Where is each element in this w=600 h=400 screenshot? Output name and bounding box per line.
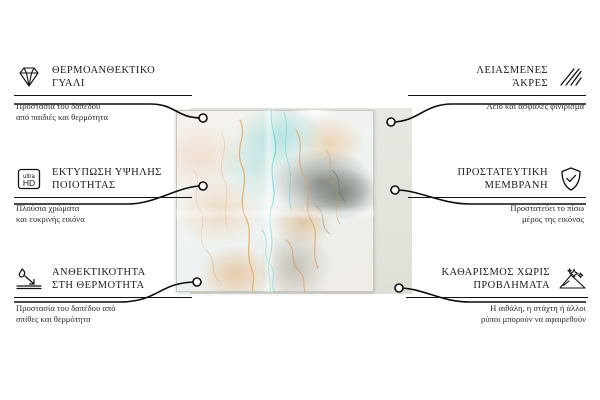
feature-header: ΘΕΡΜΟΑΝΘΕΚΤΙΚΟ ΓΥΑΛΙ (14, 64, 192, 90)
feature-title: ΘΕΡΜΟΑΝΘΕΚΤΙΚΟ ΓΥΑΛΙ (52, 64, 155, 90)
divider (406, 297, 588, 298)
feature-header: ΛΕΙΑΣΜΕΝΕΣ ΆΚΡΕΣ (408, 64, 586, 90)
divider (14, 95, 192, 96)
feature-protective-membrane: ΠΡΟΣΤΑΤΕΥΤΙΚΗ ΜΕΜΒΡΑΝΗ Προστατεύει το πί… (408, 166, 586, 225)
divider (408, 197, 586, 198)
feature-description: Προστατεύει το πίσω μέρος της εικόνας (408, 203, 586, 225)
feature-title: ΚΑΘΑΡΙΣΜΟΣ ΧΩΡΙΣ ΠΡΟΒΛΗΜΑΤΑ (441, 266, 550, 292)
feature-description: Προστασία του δαπέδου από σπίθες και θερ… (14, 303, 192, 325)
feature-title: ΑΝΘΕΚΤΙΚΟΤΗΤΑ ΣΤΗ ΘΕΡΜΟΤΗΤΑ (52, 266, 146, 292)
diamond-icon (14, 64, 44, 90)
feature-polished-edges: ΛΕΙΑΣΜΕΝΕΣ ΆΚΡΕΣ Λείο και ασφαλές φινίρι… (408, 64, 586, 112)
feature-header: ultra HD ΕΚΤΥΠΩΣΗ ΥΨΗΛΗΣ ΠΟΙΟΤΗΤΑΣ (14, 166, 192, 192)
svg-text:HD: HD (23, 178, 35, 188)
feature-heat-resistant-glass: ΘΕΡΜΟΑΝΘΕΚΤΙΚΟ ΓΥΑΛΙ Προστασία του δαπέδ… (14, 64, 192, 123)
feature-header: ΚΑΘΑΡΙΣΜΟΣ ΧΩΡΙΣ ΠΡΟΒΛΗΜΑΤΑ (406, 266, 588, 292)
heat-resistance-icon (14, 266, 44, 292)
feature-header: ΑΝΘΕΚΤΙΚΟΤΗΤΑ ΣΤΗ ΘΕΡΜΟΤΗΤΑ (14, 266, 192, 292)
feature-high-quality-print: ultra HD ΕΚΤΥΠΩΣΗ ΥΨΗΛΗΣ ΠΟΙΟΤΗΤΑΣ Πλούσ… (14, 166, 192, 225)
divider (14, 297, 192, 298)
polished-edges-icon (556, 64, 586, 90)
feature-description: Πλούσια χρώματα και ευκρινής εικόνα (14, 203, 192, 225)
feature-title: ΕΚΤΥΠΩΣΗ ΥΨΗΛΗΣ ΠΟΙΟΤΗΤΑΣ (52, 166, 162, 192)
feature-description: Λείο και ασφαλές φινίρισμα (408, 101, 586, 112)
divider (408, 95, 586, 96)
feature-header: ΠΡΟΣΤΑΤΕΥΤΙΚΗ ΜΕΜΒΡΑΝΗ (408, 166, 586, 192)
shield-check-icon (556, 166, 586, 192)
feature-description: Προστασία του δαπέδου από παιδιές και θε… (14, 101, 192, 123)
feature-description: Η αιθάλη, η στάχτη ή άλλοι ρύποι μπορούν… (406, 303, 588, 325)
easy-clean-sparkle-icon (558, 266, 588, 292)
ultra-hd-badge-icon: ultra HD (14, 166, 44, 192)
feature-title: ΠΡΟΣΤΑΤΕΥΤΙΚΗ ΜΕΜΒΡΑΝΗ (458, 166, 548, 192)
product-feature-infographic: ΘΕΡΜΟΑΝΘΕΚΤΙΚΟ ΓΥΑΛΙ Προστασία του δαπέδ… (0, 0, 600, 400)
feature-heat-durability: ΑΝΘΕΚΤΙΚΟΤΗΤΑ ΣΤΗ ΘΕΡΜΟΤΗΤΑ Προστασία το… (14, 266, 192, 325)
feature-easy-cleaning: ΚΑΘΑΡΙΣΜΟΣ ΧΩΡΙΣ ΠΡΟΒΛΗΜΑΤΑ Η αιθάλη, η … (406, 266, 588, 325)
divider (14, 197, 192, 198)
feature-title: ΛΕΙΑΣΜΕΝΕΣ ΆΚΡΕΣ (476, 64, 548, 90)
